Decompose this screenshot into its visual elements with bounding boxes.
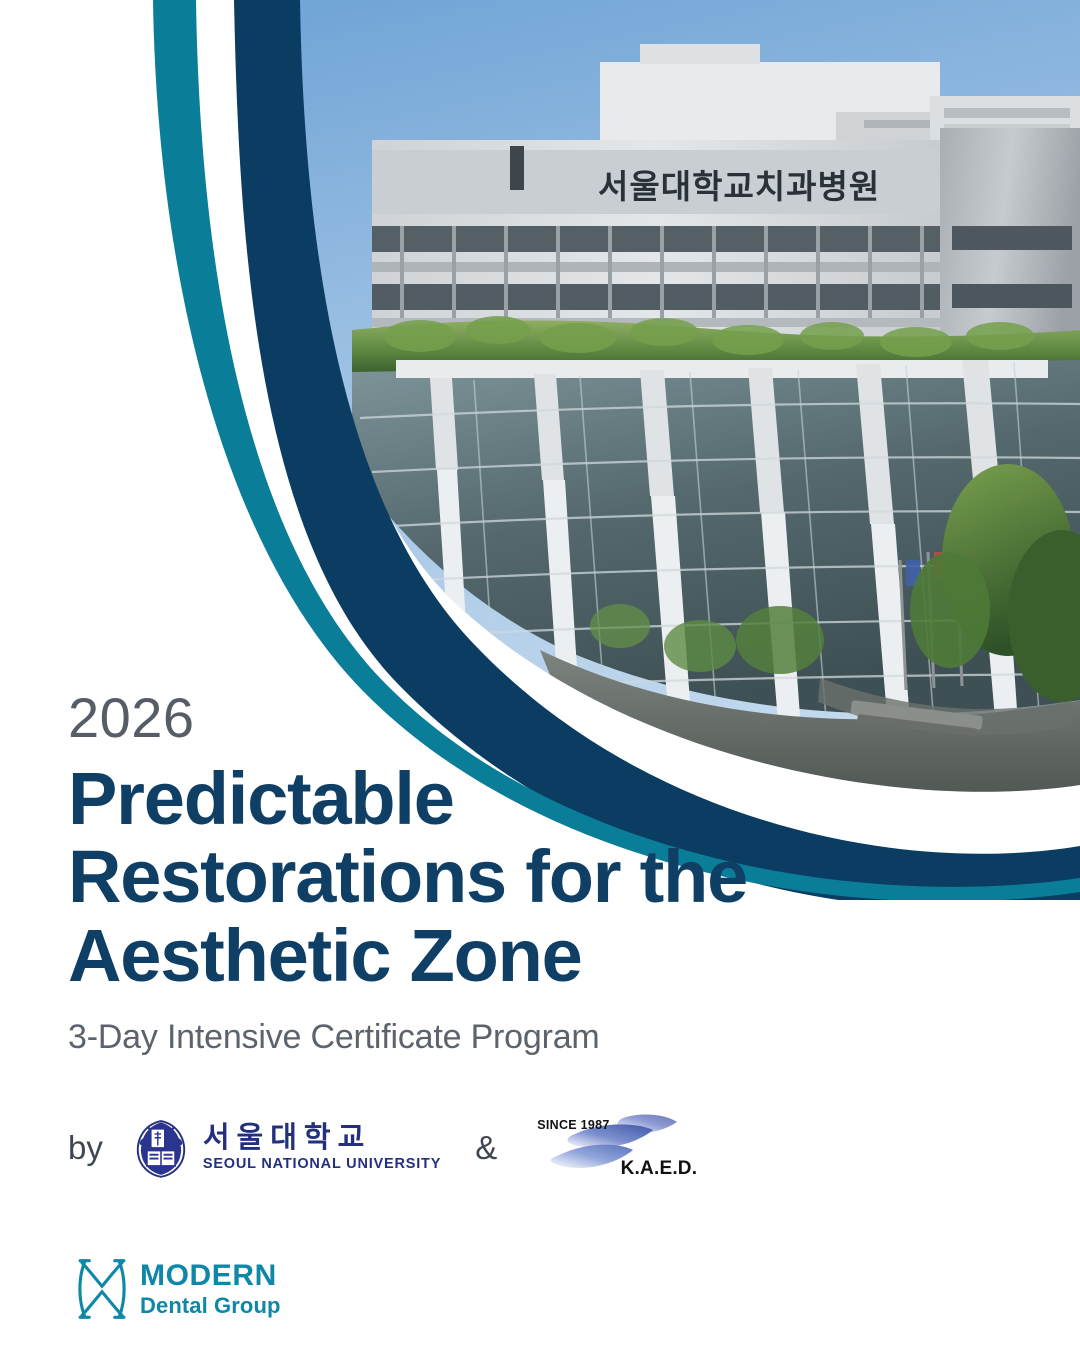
kaed-since-label: SINCE 1987 <box>537 1118 609 1132</box>
ampersand-separator: & <box>475 1129 497 1167</box>
brochure-cover-page: 서울대학교치과병원 <box>0 0 1080 1350</box>
snu-crest-icon <box>129 1116 193 1180</box>
kaed-name-label: K.A.E.D. <box>621 1158 698 1180</box>
tooth-outline-icon <box>76 1258 128 1320</box>
partners-row: by <box>68 1112 699 1184</box>
snu-english-name: SEOUL NATIONAL UNIVERSITY <box>203 1155 441 1174</box>
snu-text-block: 서울대학교 SEOUL NATIONAL UNIVERSITY <box>203 1122 441 1173</box>
page-title: Predictable Restorations for the Aesthet… <box>68 760 968 995</box>
cover-text-block: 2026 Predictable Restorations for the Ae… <box>68 690 968 1058</box>
sponsor-line-1: MODERN <box>140 1261 281 1291</box>
snu-korean-name: 서울대학교 <box>203 1122 441 1152</box>
by-label: by <box>68 1129 103 1167</box>
building-sign-text: 서울대학교치과병원 <box>598 167 880 206</box>
kaed-logo: SINCE 1987 K.A.E.D. <box>531 1112 699 1184</box>
sponsor-line-2: Dental Group <box>140 1295 281 1317</box>
page-subtitle: 3-Day Intensive Certificate Program <box>68 1017 968 1058</box>
sponsor-logo: MODERN Dental Group <box>76 1258 281 1320</box>
snu-logo: 서울대학교 SEOUL NATIONAL UNIVERSITY <box>129 1116 441 1180</box>
year-label: 2026 <box>68 690 968 746</box>
sponsor-text-block: MODERN Dental Group <box>140 1261 281 1317</box>
